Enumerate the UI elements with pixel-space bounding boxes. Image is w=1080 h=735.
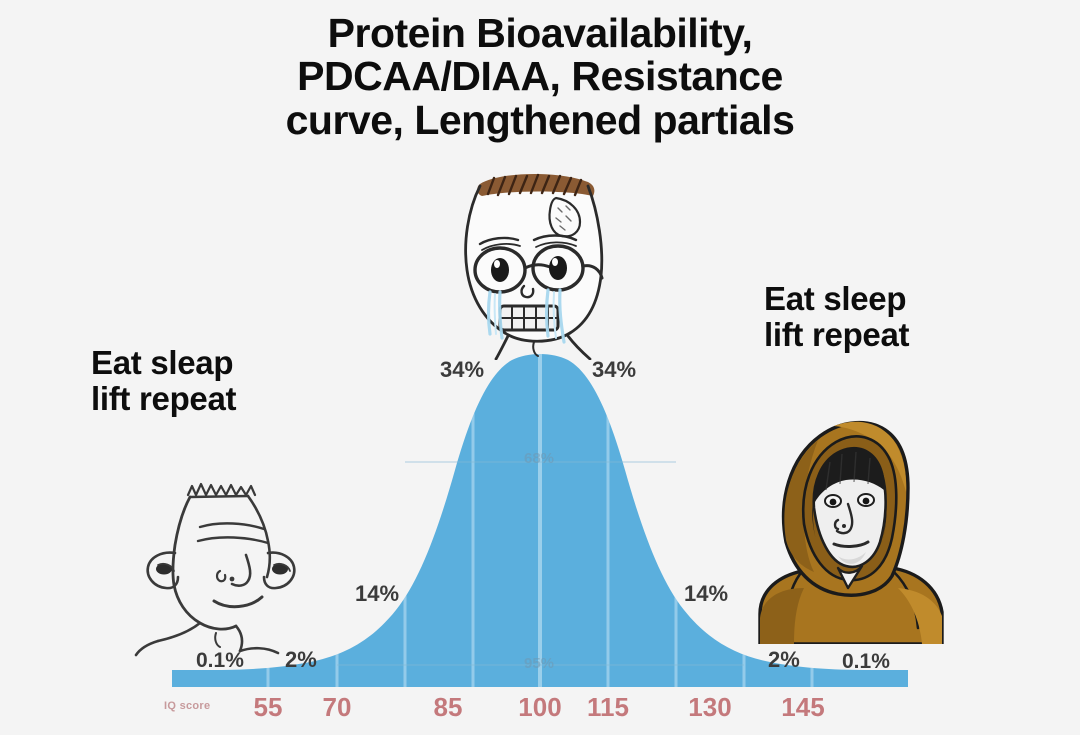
- x-tick-130: 130: [680, 692, 740, 723]
- caption-right: Eat sleep lift repeat: [764, 281, 909, 352]
- pct-label-01-right: 0.1%: [842, 650, 890, 674]
- brainlet-wojak-icon: [128, 455, 328, 660]
- caption-left: Eat sleap lift repeat: [91, 345, 236, 416]
- x-tick-85: 85: [418, 692, 478, 723]
- pct-label-14-right: 14%: [684, 581, 728, 607]
- hooded-chad-wojak-icon: [742, 392, 957, 644]
- pct-label-14-left: 14%: [355, 581, 399, 607]
- axis-label-iq-score: IQ score: [164, 700, 210, 712]
- interval-label-68: 68%: [524, 450, 554, 467]
- x-tick-115: 115: [578, 692, 638, 723]
- x-tick-100: 100: [510, 692, 570, 723]
- interval-label-95: 95%: [524, 655, 554, 672]
- curve-gridlines: [268, 330, 812, 690]
- meme-canvas: Protein Bioavailability, PDCAA/DIAA, Res…: [0, 0, 1080, 735]
- x-tick-145: 145: [773, 692, 833, 723]
- pct-label-34-right: 34%: [592, 357, 636, 383]
- x-tick-55: 55: [238, 692, 298, 723]
- pct-label-2-right: 2%: [768, 647, 800, 673]
- pct-label-34-left: 34%: [440, 357, 484, 383]
- crying-soyjak-icon: [438, 160, 643, 360]
- x-tick-70: 70: [307, 692, 367, 723]
